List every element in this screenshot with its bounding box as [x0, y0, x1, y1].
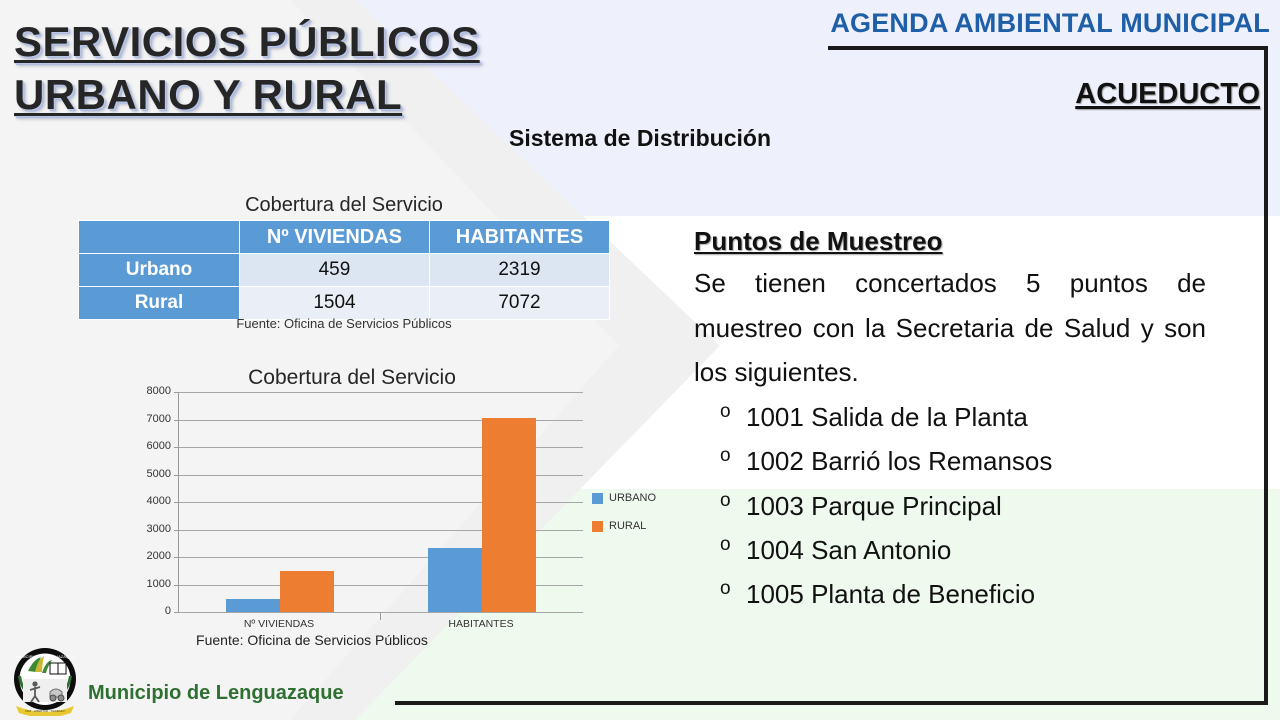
section-title: ACUEDUCTO	[620, 78, 1260, 111]
chart-x-separator	[380, 612, 381, 620]
sampling-points-list: o1001 Salida de la Plantao1002 Barrió lo…	[694, 395, 1206, 616]
chart-bar	[428, 548, 482, 612]
table-col-viviendas: Nº VIVIENDAS	[240, 221, 430, 254]
table-caption: Cobertura del Servicio	[78, 194, 610, 217]
frame-top-line	[828, 46, 1268, 50]
svg-text:MUNICIPIO DE LENGUAZAQUE: MUNICIPIO DE LENGUAZAQUE	[15, 654, 74, 659]
footer-municipality-label: Municipio de Lenguazaque	[88, 682, 344, 705]
municipal-crest-icon: PAZ · LIBERTAD · TRABAJO MUNICIPIO DE LE…	[8, 646, 82, 716]
chart-bar	[226, 599, 280, 612]
chart-y-tick-label: 8000	[113, 385, 178, 397]
list-item: o1003 Parque Principal	[746, 484, 1206, 528]
chart-legend-label: RURAL	[609, 520, 646, 532]
bullet-circle-icon: o	[720, 440, 731, 472]
chart-bar	[280, 571, 334, 612]
list-item: o1005 Planta de Beneficio	[746, 572, 1206, 616]
table-cell-rural-habitantes: 7072	[429, 287, 609, 320]
page-title-line2: URBANO Y RURAL	[14, 69, 634, 122]
bullet-circle-icon: o	[720, 573, 731, 605]
page-title-line1: SERVICIOS PÚBLICOS	[14, 16, 634, 69]
table-rowhead-urbano: Urbano	[79, 254, 240, 287]
chart-legend-item: RURAL	[592, 520, 656, 532]
agenda-title: AGENDA AMBIENTAL MUNICIPAL	[620, 8, 1270, 39]
coverage-table: Nº VIVIENDAS HABITANTES Urbano 459 2319 …	[78, 220, 610, 320]
chart-y-tick-label: 2000	[113, 550, 178, 562]
bullet-circle-icon: o	[720, 485, 731, 517]
chart-y-tick-label: 7000	[113, 413, 178, 425]
chart-gridline	[179, 392, 583, 393]
table-row: Urbano 459 2319	[79, 254, 610, 287]
table-cell-rural-viviendas: 1504	[240, 287, 430, 320]
chart-y-tick-label: 0	[113, 605, 178, 617]
chart-legend-label: URBANO	[609, 492, 656, 504]
slide: SERVICIOS PÚBLICOS URBANO Y RURAL AGENDA…	[0, 0, 1280, 720]
list-item: o1001 Salida de la Planta	[746, 395, 1206, 439]
table-header-row: Nº VIVIENDAS HABITANTES	[79, 221, 610, 254]
chart-y-tick-label: 3000	[113, 523, 178, 535]
table-rowhead-rural: Rural	[79, 287, 240, 320]
frame-bottom-line	[395, 701, 1268, 705]
chart-y-tick-label: 1000	[113, 578, 178, 590]
chart-x-tick-label: Nº VIVIENDAS	[178, 618, 380, 630]
chart-legend-swatch	[592, 521, 603, 532]
chart-x-axis	[179, 612, 583, 613]
chart-y-tick-label: 6000	[113, 440, 178, 452]
list-item: o1002 Barrió los Remansos	[746, 439, 1206, 483]
list-item-label: 1002 Barrió los Remansos	[746, 446, 1052, 476]
chart-title: Cobertura del Servicio	[122, 366, 582, 390]
chart-x-tick-label: HABITANTES	[380, 618, 582, 630]
body-heading: Puntos de Muestreo	[694, 226, 1206, 257]
bullet-circle-icon: o	[720, 396, 731, 428]
chart-legend-item: URBANO	[592, 492, 656, 504]
chart-y-tick-label: 4000	[113, 495, 178, 507]
table-col-habitantes: HABITANTES	[429, 221, 609, 254]
table-cell-urbano-viviendas: 459	[240, 254, 430, 287]
coverage-bar-chart: Cobertura del Servicio 80007000600050004…	[62, 366, 622, 641]
table-cell-urbano-habitantes: 2319	[429, 254, 609, 287]
list-item: o1004 San Antonio	[746, 528, 1206, 572]
subtitle: Sistema de Distribución	[380, 125, 900, 152]
table-source-note: Fuente: Oficina de Servicios Públicos	[78, 316, 610, 331]
list-item-label: 1005 Planta de Beneficio	[746, 579, 1035, 609]
svg-text:PAZ · LIBERTAD · TRABAJO: PAZ · LIBERTAD · TRABAJO	[25, 709, 65, 713]
chart-bar	[482, 418, 536, 612]
page-title: SERVICIOS PÚBLICOS URBANO Y RURAL	[14, 16, 634, 121]
chart-plot-area: 800070006000500040003000200010000	[178, 392, 582, 612]
chart-y-tick-label: 5000	[113, 468, 178, 480]
list-item-label: 1004 San Antonio	[746, 535, 951, 565]
chart-source-note: Fuente: Oficina de Servicios Públicos	[102, 632, 522, 648]
table-row: Rural 1504 7072	[79, 287, 610, 320]
table-corner-cell	[79, 221, 240, 254]
list-item-label: 1001 Salida de la Planta	[746, 402, 1028, 432]
list-item-label: 1003 Parque Principal	[746, 491, 1002, 521]
body-paragraph: Se tienen concertados 5 puntos de muestr…	[694, 261, 1206, 395]
chart-legend: URBANORURAL	[592, 492, 656, 548]
sampling-points-panel: Puntos de Muestreo Se tienen concertados…	[694, 226, 1206, 616]
chart-legend-swatch	[592, 493, 603, 504]
bullet-circle-icon: o	[720, 529, 731, 561]
frame-right-line	[1264, 46, 1268, 705]
